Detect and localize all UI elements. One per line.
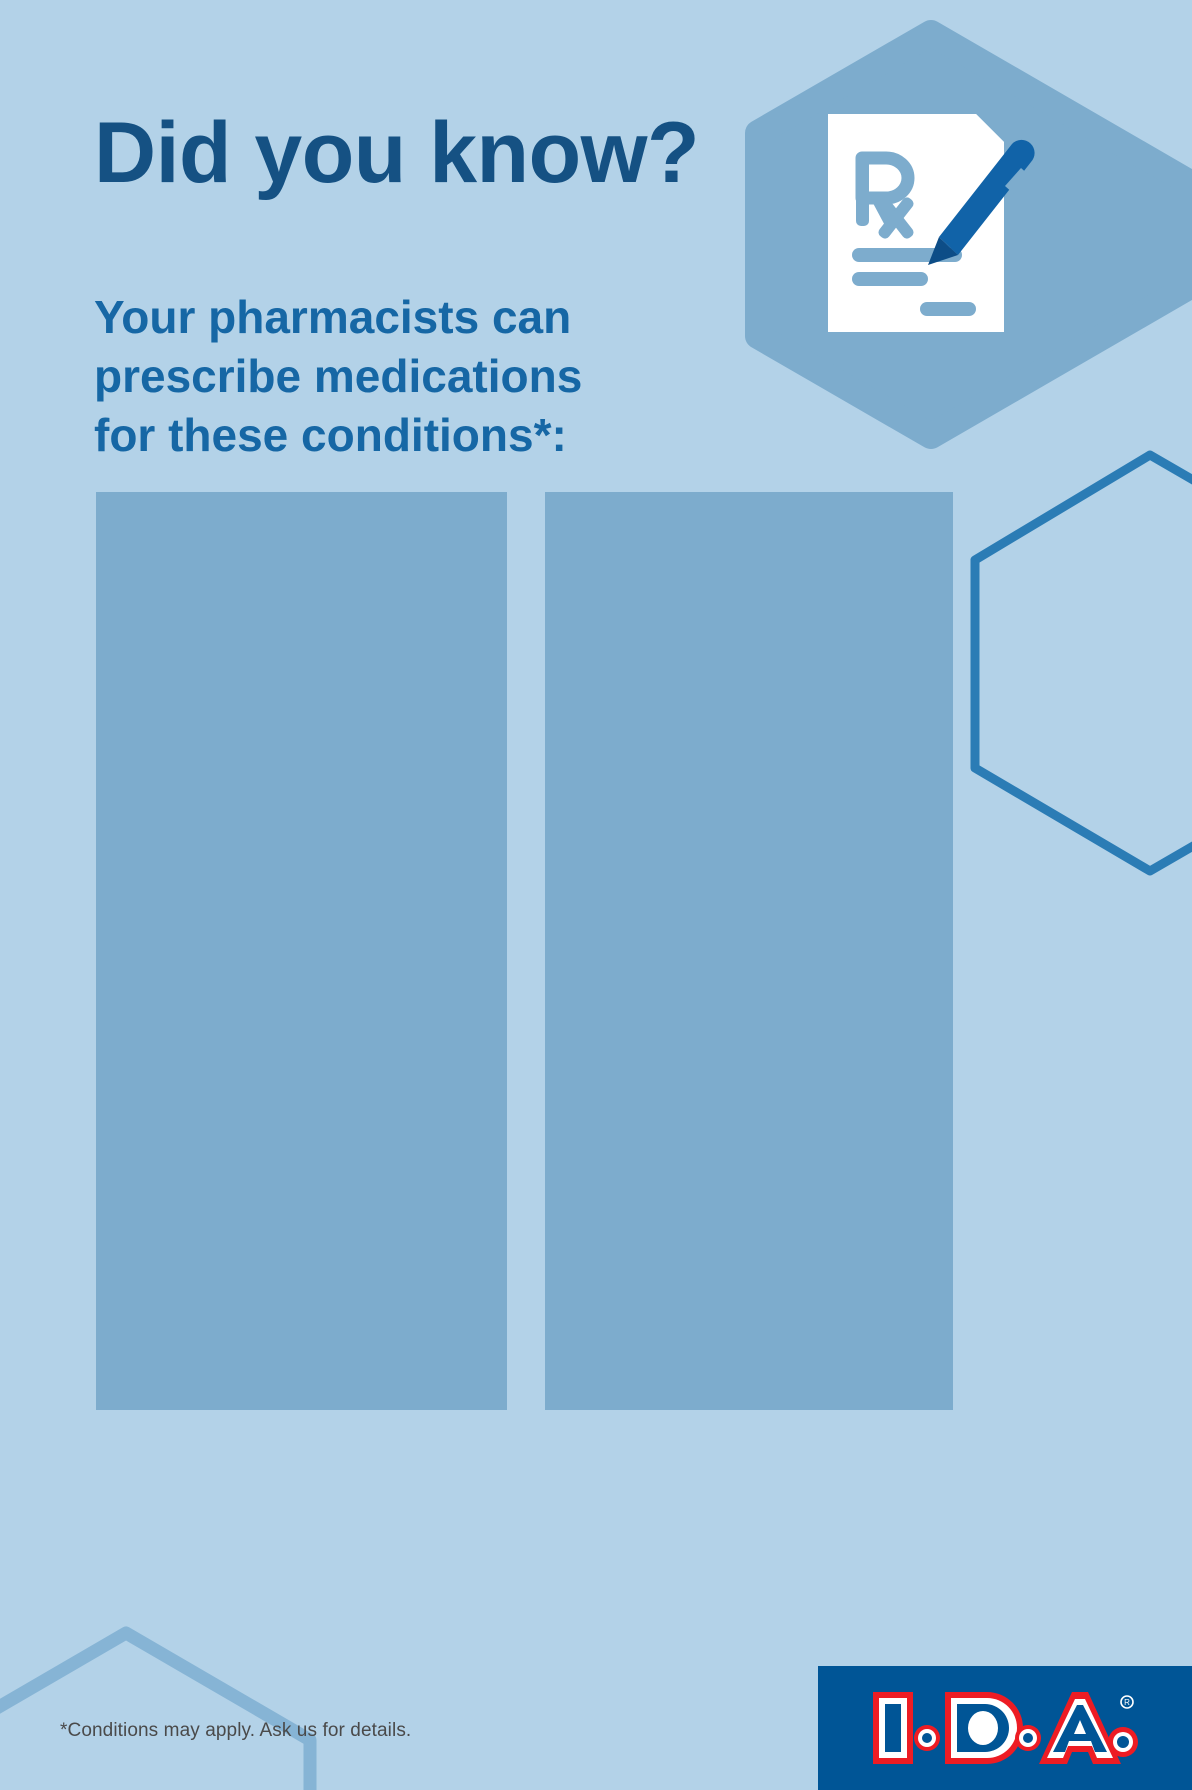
subheading-line-1: Your pharmacists can — [94, 288, 654, 347]
footnote-disclaimer: *Conditions may apply. Ask us for detail… — [60, 1720, 411, 1742]
ida-dot-3-inner — [1117, 1736, 1129, 1748]
document-line-2 — [852, 272, 928, 286]
poster-canvas: Did you know? Your pharmacists can presc… — [0, 0, 1192, 1790]
conditions-column-left — [96, 492, 507, 1410]
hexagon-outline-icon-right — [975, 455, 1192, 871]
document-signature-line — [920, 302, 976, 316]
prescription-rx-document-icon — [826, 112, 1036, 334]
prescription-rx-document-svg — [826, 112, 1036, 334]
ida-dot-2-inner — [1023, 1733, 1033, 1743]
conditions-column-right — [545, 492, 953, 1410]
subheading-line-3: for these conditions*: — [94, 406, 654, 465]
subheading-line-2: prescribe medications — [94, 347, 654, 406]
ida-logo: R — [818, 1666, 1192, 1790]
page-title: Did you know? — [94, 110, 774, 196]
hexagon-outline-icon-bottom — [0, 1633, 310, 1790]
ida-letter-d-counter — [968, 1711, 998, 1745]
document-fold-corner — [976, 114, 1004, 142]
ida-logo-svg: R — [865, 1686, 1145, 1770]
ida-logo-letters: R — [873, 1692, 1138, 1764]
registered-trademark-glyph: R — [1124, 1698, 1130, 1707]
ida-dot-1-inner — [922, 1733, 932, 1743]
ida-letter-i-inner — [885, 1704, 901, 1752]
subheading: Your pharmacists can prescribe medicatio… — [94, 288, 654, 465]
